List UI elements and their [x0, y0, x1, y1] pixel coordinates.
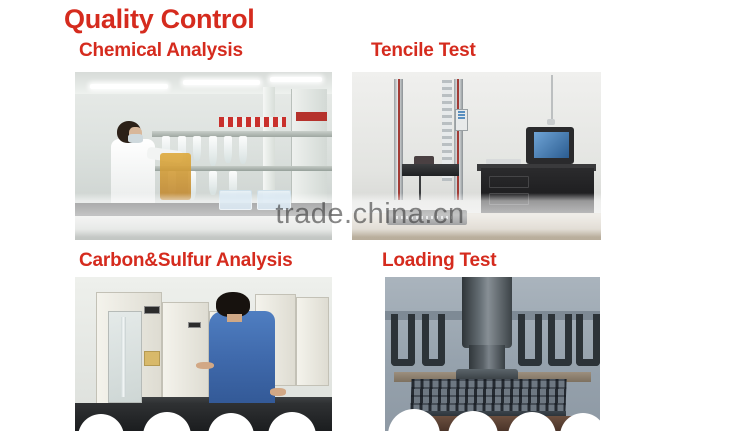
section-title-carbon-sulfur-analysis: Carbon&Sulfur Analysis — [79, 250, 292, 272]
ceiling-lamp-icon — [270, 77, 321, 82]
analyzer-display — [188, 322, 201, 328]
steel-bracket — [391, 314, 415, 366]
press-ram — [462, 277, 511, 348]
operator-neck — [227, 314, 242, 322]
loading-press-scene — [385, 277, 600, 431]
sample-bin — [219, 190, 252, 210]
column-stripe — [398, 79, 400, 200]
glassware-icon — [209, 136, 217, 166]
lab-floor — [75, 403, 332, 431]
keyboard-icon — [486, 159, 521, 164]
wall-sign — [296, 112, 327, 121]
column-stripe — [457, 79, 459, 200]
tensile-machine-scene — [352, 72, 601, 240]
analyzer-cabinet — [296, 297, 329, 386]
steel-bracket — [518, 314, 542, 366]
desk-drawer — [489, 193, 529, 205]
machine-base-unit — [387, 210, 467, 225]
operator-hand — [196, 362, 214, 370]
section-title-chemical-analysis: Chemical Analysis — [79, 40, 243, 62]
ceiling-lamp-icon — [90, 84, 167, 89]
analyzer-display — [144, 306, 159, 314]
glassware-icon — [193, 136, 201, 161]
lab-bench — [75, 203, 332, 216]
press-base — [398, 416, 587, 431]
chemical-lab-scene — [75, 72, 332, 240]
press-ram-lower — [469, 345, 506, 373]
face-mask-icon — [128, 134, 143, 142]
steel-bracket — [422, 314, 446, 366]
desk-drawer — [489, 176, 529, 188]
cord-fixture — [547, 119, 555, 125]
glassware-icon — [224, 136, 232, 163]
hanging-cord — [551, 75, 553, 122]
analyzer-cabinet — [162, 302, 208, 413]
glass-tube — [121, 317, 126, 397]
steel-bracket — [576, 314, 600, 366]
steel-grating-panel — [410, 379, 566, 413]
page-title: Quality Control — [64, 4, 255, 35]
glassware-icon — [209, 171, 217, 195]
control-pad — [144, 351, 159, 366]
photo-chemical-analysis — [75, 72, 332, 240]
crosshead-support — [419, 176, 421, 200]
quality-control-page: Quality Control Chemical Analysis — [0, 0, 740, 431]
black-desk — [481, 168, 593, 215]
photo-loading-test — [385, 277, 600, 431]
machine-control-panel — [455, 109, 467, 131]
section-title-loading-test: Loading Test — [382, 250, 496, 272]
section-title-tencile-test: Tencile Test — [371, 40, 476, 62]
photo-carbon-sulfur-analysis — [75, 277, 332, 431]
amber-liquid-apparatus — [160, 153, 191, 200]
lab-cabinet — [291, 89, 327, 220]
operator-hand — [270, 388, 285, 396]
ceiling-lamp-icon — [183, 80, 260, 85]
carbon-sulfur-scene — [75, 277, 332, 431]
monitor-screen — [534, 132, 569, 157]
photo-tencile-test — [352, 72, 601, 240]
machine-crosshead — [402, 164, 459, 176]
sample-bin — [257, 190, 290, 210]
lab-floor — [75, 216, 332, 240]
steel-bracket — [548, 314, 572, 366]
reagent-rack — [219, 117, 286, 127]
